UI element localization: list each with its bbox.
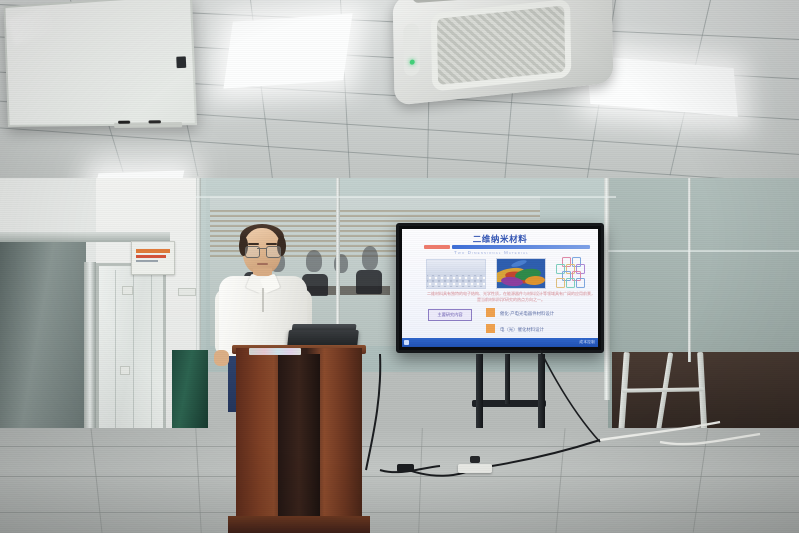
- power-adapter[interactable]: [470, 456, 480, 463]
- power-adapter[interactable]: [397, 464, 414, 472]
- lectern-base: [228, 516, 370, 533]
- graphene-lattice-image: [426, 259, 486, 289]
- slide-paragraph: 二维材料具有独特的电子结构、光学性质，在能源器件与材料设计等领域具有广阔的应用前…: [426, 291, 596, 303]
- cassette-air-conditioner: [393, 0, 614, 106]
- eyeglasses-icon: [266, 246, 281, 258]
- partition-rail: [196, 196, 616, 198]
- lectern-center-panel: [278, 354, 320, 516]
- power-cable: [540, 350, 600, 442]
- hexagonal-molecular-diagram: [554, 257, 598, 291]
- wall-outlet[interactable]: [178, 288, 196, 296]
- wall-outlet[interactable]: [122, 286, 133, 295]
- slide-subtitle: Two Dimensional Material: [454, 250, 529, 255]
- presenter-shirt-placket: [262, 288, 264, 312]
- slide-bullet-1: 催化·产电光电器件材料设计: [500, 311, 554, 317]
- presenter-eyebrow: [248, 243, 259, 245]
- slide-tag-box: 主要研究内容: [428, 309, 472, 321]
- floor-power-strip[interactable]: [458, 464, 492, 473]
- slide-accent-red: [424, 245, 450, 249]
- whiteboard-on-easel[interactable]: [4, 0, 197, 127]
- whiteboard-marker-tray: [114, 122, 182, 128]
- colorful-3d-render-image: [496, 258, 546, 289]
- power-cable: [660, 434, 760, 444]
- presenter-eyebrow: [266, 243, 277, 245]
- presenter-mouth: [257, 263, 268, 265]
- slide-title: 二维纳米材料: [402, 233, 598, 245]
- wall-mounted-notice-sign: [131, 241, 175, 275]
- podium-label-strip: [249, 348, 301, 355]
- marker-icon[interactable]: [118, 121, 130, 124]
- cable-group: [0, 330, 799, 533]
- power-cable: [492, 440, 600, 466]
- marker-icon[interactable]: [148, 120, 161, 123]
- eyeglasses-bridge: [257, 248, 267, 249]
- bullet-square-icon: [486, 308, 495, 317]
- partition-rail: [608, 250, 799, 252]
- power-cable: [600, 422, 720, 440]
- photo-scene: 二维纳米材料 Two Dimensional Material: [0, 0, 799, 533]
- slide-accent-blue: [452, 245, 590, 249]
- ceiling-light: [94, 170, 185, 178]
- presenter-hand: [214, 350, 229, 366]
- power-cable: [366, 354, 380, 470]
- whiteboard-clip: [176, 56, 186, 68]
- whiteboard-glare: [7, 6, 55, 45]
- ceiling-light: [223, 13, 352, 88]
